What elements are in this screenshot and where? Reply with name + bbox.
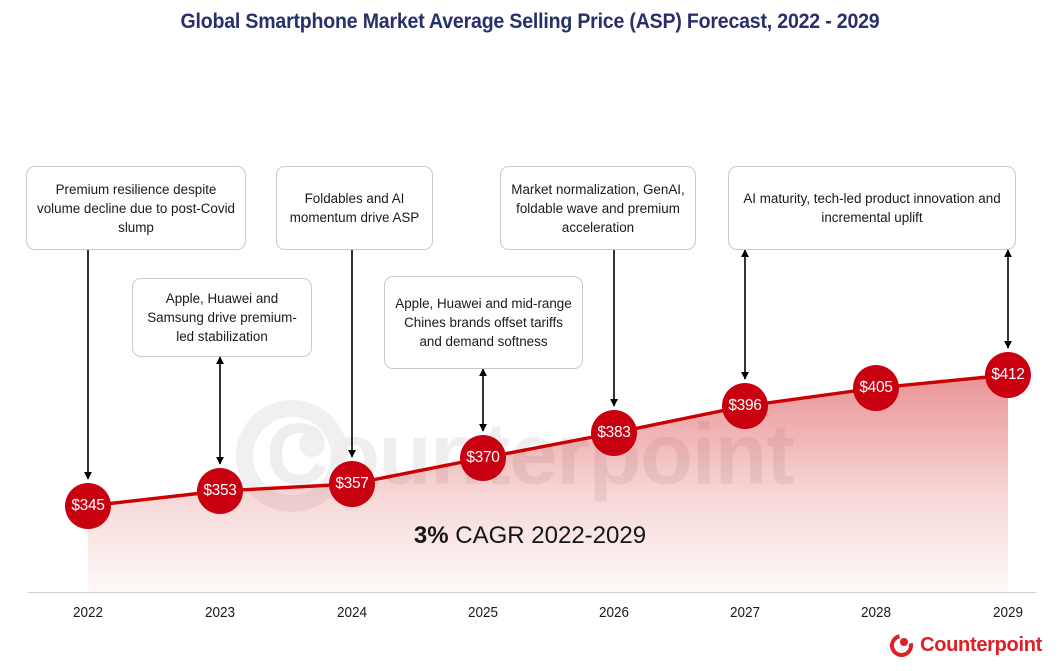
data-point-2028[interactable]: $405 <box>853 365 899 411</box>
data-point-2029[interactable]: $412 <box>985 352 1031 398</box>
counterpoint-logo: Counterpoint <box>890 634 1042 657</box>
x-tick-2027: 2027 <box>709 604 781 621</box>
annotation-box-2024: Foldables and AI momentum drive ASP <box>276 166 433 250</box>
x-tick-2024: 2024 <box>316 604 388 621</box>
annotation-box-2022: Premium resilience despite volume declin… <box>26 166 246 250</box>
x-tick-2026: 2026 <box>578 604 650 621</box>
x-tick-2023: 2023 <box>184 604 256 621</box>
annotation-box-2027-2029: AI maturity, tech-led product innovation… <box>728 166 1016 250</box>
cagr-value: 3% <box>414 522 449 549</box>
x-axis-line <box>28 592 1036 593</box>
x-tick-2022: 2022 <box>52 604 124 621</box>
counterpoint-spiral-icon <box>890 634 913 657</box>
annotation-box-2025: Apple, Huawei and mid-range Chines brand… <box>384 276 583 369</box>
x-tick-2025: 2025 <box>447 604 519 621</box>
annotation-box-2026: Market normalization, GenAI, foldable wa… <box>500 166 696 250</box>
logo-text: Counterpoint <box>920 634 1042 657</box>
data-point-2024[interactable]: $357 <box>329 461 375 507</box>
annotation-box-2023: Apple, Huawei and Samsung drive premium-… <box>132 278 312 357</box>
cagr-callout: 3% CAGR 2022-2029 <box>0 522 1060 550</box>
data-point-2027[interactable]: $396 <box>722 383 768 429</box>
data-point-2023[interactable]: $353 <box>197 468 243 514</box>
x-tick-2028: 2028 <box>840 604 912 621</box>
data-point-2026[interactable]: $383 <box>591 410 637 456</box>
x-axis-labels: 2022 2023 2024 2025 2026 2027 2028 2029 <box>0 604 1060 628</box>
cagr-label: CAGR 2022-2029 <box>449 522 646 549</box>
data-point-2025[interactable]: $370 <box>460 435 506 481</box>
x-tick-2029: 2029 <box>972 604 1044 621</box>
